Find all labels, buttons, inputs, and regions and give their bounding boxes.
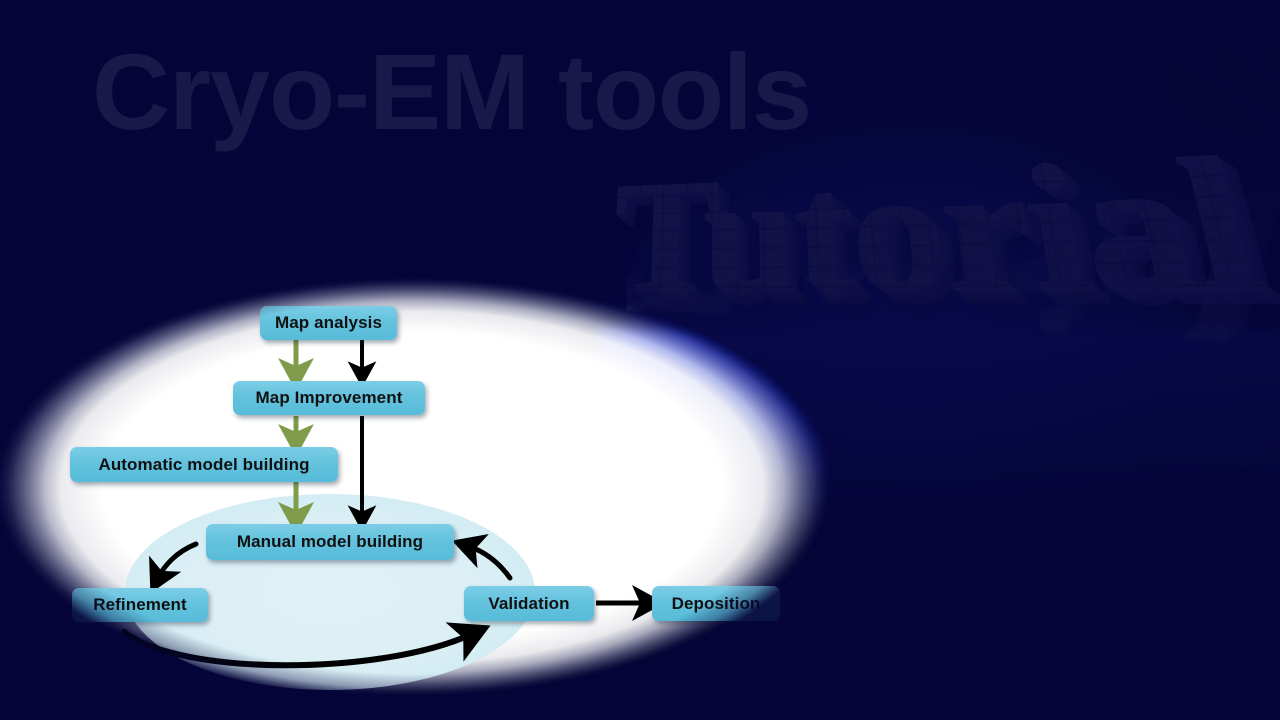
node-refinement[interactable]: Refinement [72, 588, 208, 622]
node-manual-model-building[interactable]: Manual model building [206, 524, 454, 560]
node-automatic-model-building-label: Automatic model building [98, 455, 309, 475]
slide-canvas: Tutorial Tutorial Tutorial Tutorial Cryo… [0, 0, 1280, 720]
node-automatic-model-building[interactable]: Automatic model building [70, 447, 338, 482]
node-refinement-label: Refinement [93, 595, 187, 615]
flowchart: Map analysis Map Improvement Automatic m… [0, 0, 1280, 720]
node-validation[interactable]: Validation [464, 586, 594, 621]
node-map-improvement[interactable]: Map Improvement [233, 381, 425, 415]
node-validation-label: Validation [488, 594, 569, 614]
node-deposition[interactable]: Deposition [652, 586, 780, 621]
node-deposition-label: Deposition [672, 594, 761, 614]
node-map-analysis[interactable]: Map analysis [260, 306, 397, 340]
node-map-analysis-label: Map analysis [275, 313, 382, 333]
node-manual-model-building-label: Manual model building [237, 532, 423, 552]
node-map-improvement-label: Map Improvement [256, 388, 403, 408]
